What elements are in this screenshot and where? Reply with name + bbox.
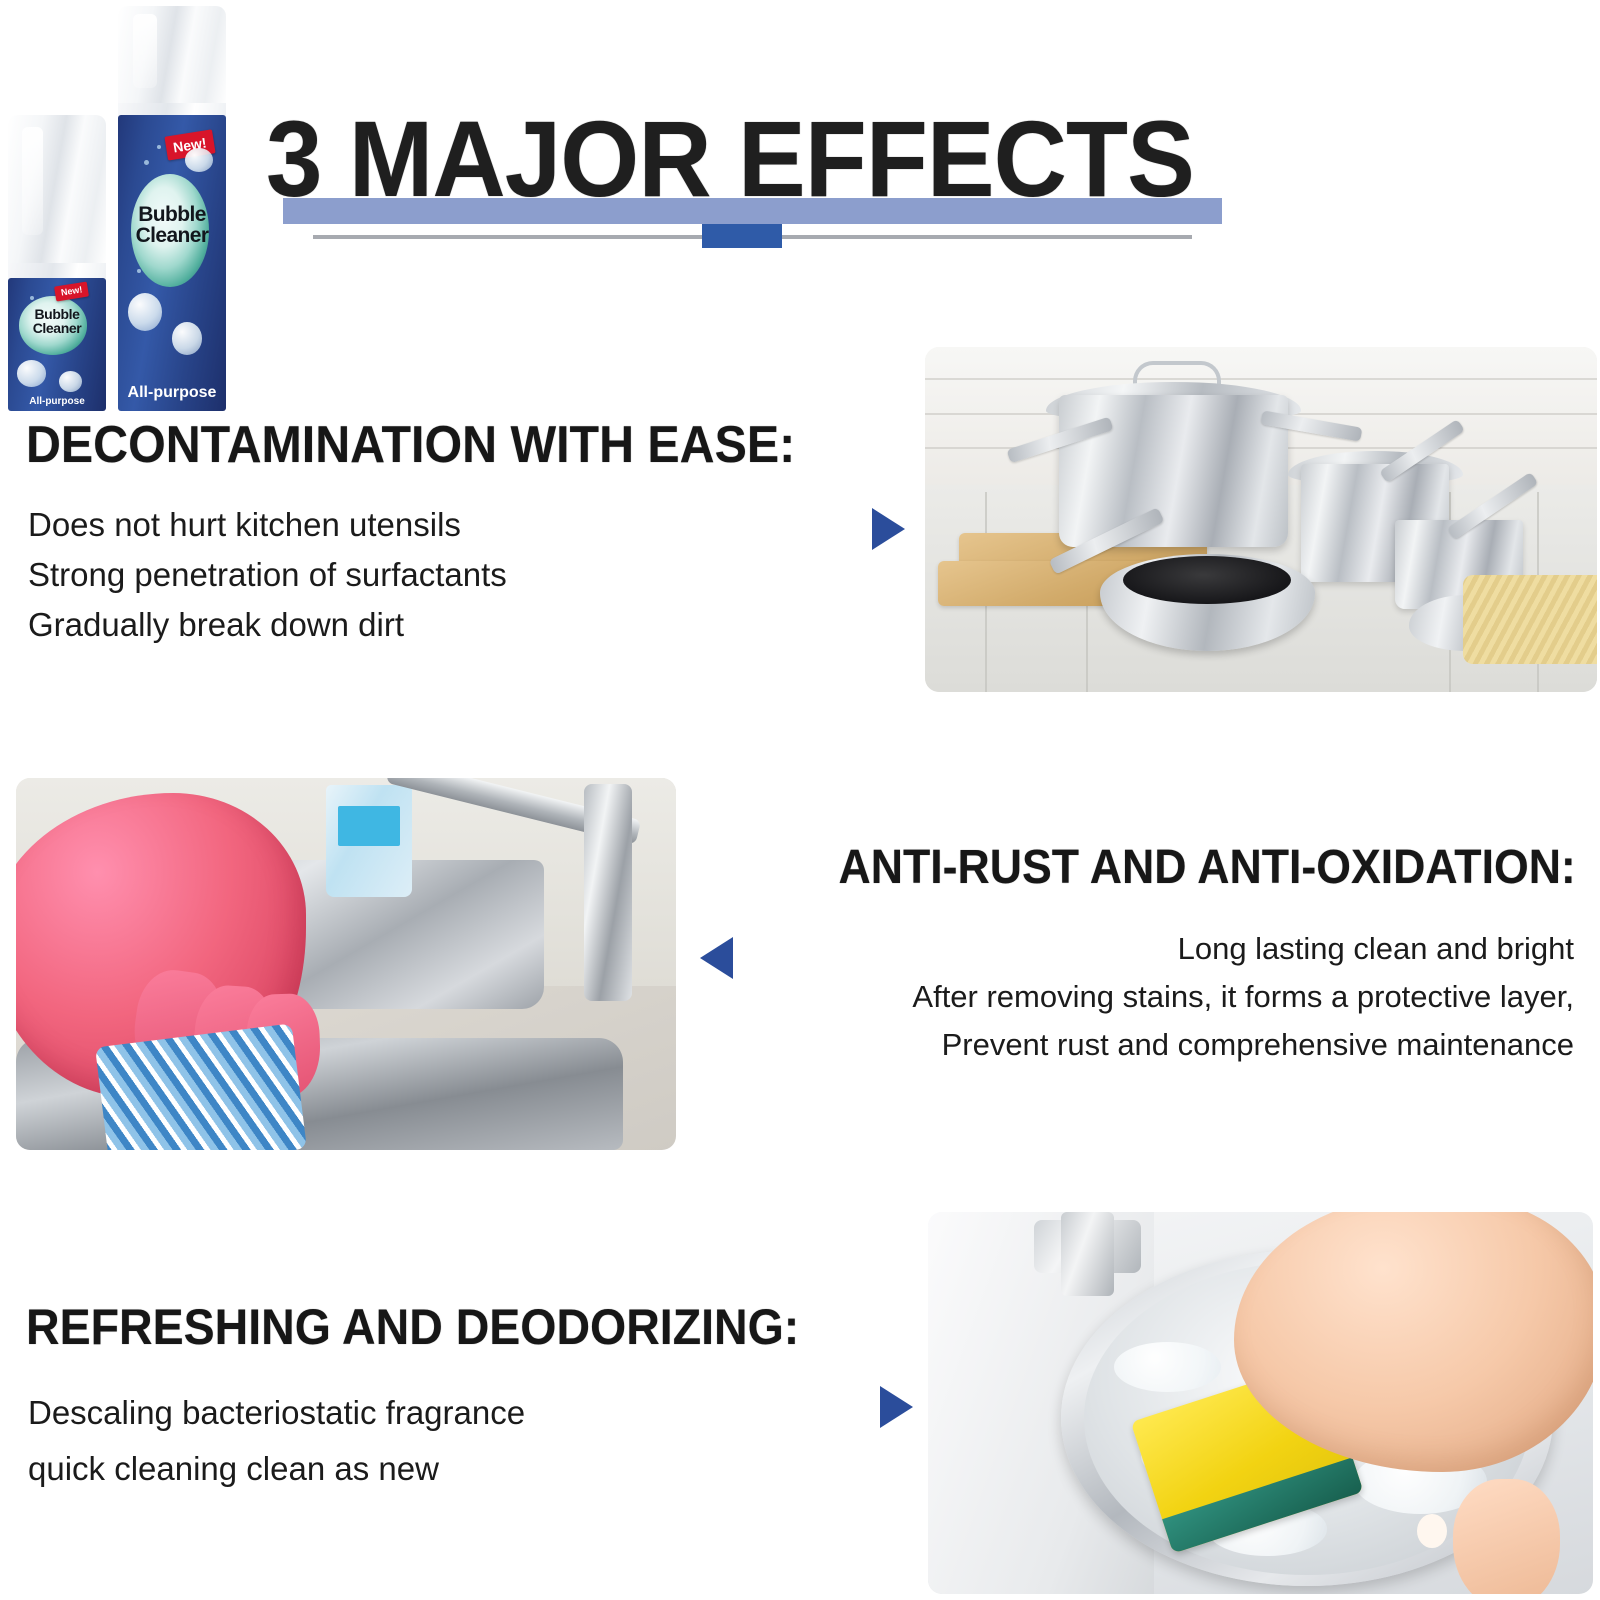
small-bottle-label: BubbleCleaner New! All-purpose — [8, 278, 106, 411]
small-bottle: BubbleCleaner New! All-purpose — [8, 115, 106, 411]
small-bottle-cap — [8, 115, 106, 269]
title-accent-chip — [702, 224, 782, 248]
section-body-refreshing: Descaling bacteriostatic fragrance quick… — [28, 1385, 525, 1497]
photo-glove-sink — [16, 778, 676, 1150]
section-heading-refreshing: REFRESHING AND DEODORIZING: — [26, 1298, 799, 1356]
section-heading-decontamination: DECONTAMINATION WITH EASE: — [26, 415, 795, 475]
section-body-decontamination: Does not hurt kitchen utensils Strong pe… — [28, 500, 507, 650]
photo-sponge-pan — [928, 1212, 1593, 1594]
section-line: After removing stains, it forms a protec… — [912, 973, 1574, 1021]
small-bottle-tagline: All-purpose — [8, 396, 106, 407]
section-body-anti-rust: Long lasting clean and bright After remo… — [912, 925, 1574, 1069]
small-bottle-brand: BubbleCleaner — [8, 307, 106, 336]
triangle-right-icon — [872, 508, 905, 550]
section-line: Long lasting clean and bright — [912, 925, 1574, 973]
triangle-right-icon — [880, 1386, 913, 1428]
tall-bottle-tagline: All-purpose — [118, 384, 226, 402]
tall-bottle-cap — [118, 6, 226, 111]
section-heading-anti-rust: ANTI-RUST AND ANTI-OXIDATION: — [839, 840, 1576, 895]
section-line: Does not hurt kitchen utensils — [28, 500, 507, 550]
infographic-page: 3 MAJOR EFFECTS BubbleCleaner New! All-p… — [0, 0, 1600, 1600]
title-accent-bar — [283, 198, 1222, 224]
tall-bottle-brand: BubbleCleaner — [118, 204, 226, 247]
small-bottle-new-badge: New! — [54, 282, 89, 302]
section-line: Prevent rust and comprehensive maintenan… — [912, 1021, 1574, 1069]
section-line: quick cleaning clean as new — [28, 1441, 525, 1497]
section-line: Strong penetration of surfactants — [28, 550, 507, 600]
section-line: Gradually break down dirt — [28, 600, 507, 650]
section-line: Descaling bacteriostatic fragrance — [28, 1385, 525, 1441]
photo-cookware-set — [925, 347, 1597, 692]
triangle-left-icon — [700, 937, 733, 979]
product-bottles-group: BubbleCleaner New! All-purpose — [0, 0, 250, 415]
tall-bottle-label: BubbleCleaner New! All-purpose — [118, 115, 226, 411]
tall-bottle: BubbleCleaner New! All-purpose — [118, 6, 226, 411]
